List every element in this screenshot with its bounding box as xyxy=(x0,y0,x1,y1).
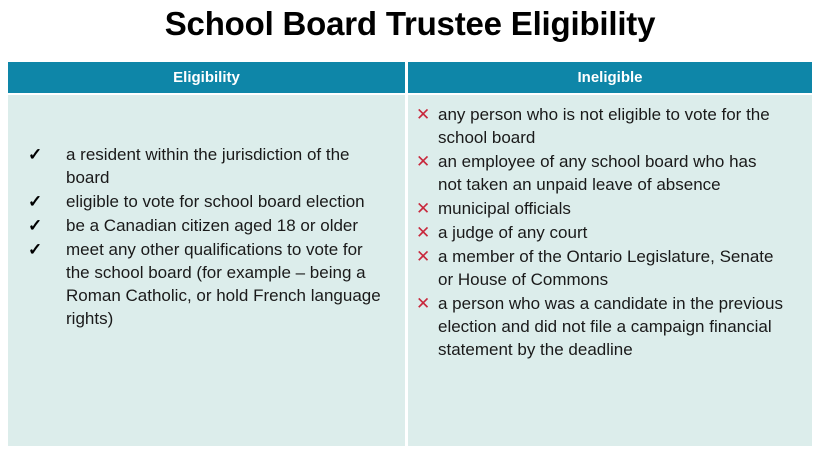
list-item-label: a judge of any court xyxy=(438,221,783,244)
ineligible-cell: ✕ any person who is not eligible to vote… xyxy=(408,95,812,446)
list-item: ✓ be a Canadian citizen aged 18 or older xyxy=(22,214,391,237)
list-item: ✕ municipal officials xyxy=(412,197,800,220)
list-item: ✕ any person who is not eligible to vote… xyxy=(412,103,800,149)
list-item: ✕ an employee of any school board who ha… xyxy=(412,150,800,196)
cross-icon: ✕ xyxy=(412,103,438,126)
list-item: ✕ a member of the Ontario Legislature, S… xyxy=(412,245,800,291)
cross-icon: ✕ xyxy=(412,245,438,268)
list-item-label: any person who is not eligible to vote f… xyxy=(438,103,783,149)
eligibility-cell: ✓ a resident within the jurisdiction of … xyxy=(8,95,408,446)
column-header-ineligible: Ineligible xyxy=(408,62,812,93)
check-icon: ✓ xyxy=(22,143,66,166)
list-item: ✕ a judge of any court xyxy=(412,221,800,244)
cross-icon: ✕ xyxy=(412,150,438,173)
list-item: ✕ a person who was a candidate in the pr… xyxy=(412,292,800,361)
list-item-label: meet any other qualifications to vote fo… xyxy=(66,238,386,330)
slide-page: School Board Trustee Eligibility Eligibi… xyxy=(0,0,820,452)
check-icon: ✓ xyxy=(22,238,66,261)
column-header-eligibility: Eligibility xyxy=(8,62,408,93)
list-item-label: a member of the Ontario Legislature, Sen… xyxy=(438,245,783,291)
list-item-label: eligible to vote for school board electi… xyxy=(66,190,386,213)
list-item: ✓ a resident within the jurisdiction of … xyxy=(22,143,391,189)
list-item-label: an employee of any school board who has … xyxy=(438,150,783,196)
page-title: School Board Trustee Eligibility xyxy=(0,0,820,56)
cross-icon: ✕ xyxy=(412,221,438,244)
check-icon: ✓ xyxy=(22,214,66,237)
list-item-label: a person who was a candidate in the prev… xyxy=(438,292,783,361)
cross-icon: ✕ xyxy=(412,292,438,315)
cross-icon: ✕ xyxy=(412,197,438,220)
ineligible-list: ✕ any person who is not eligible to vote… xyxy=(412,103,800,361)
table-header-row: Eligibility Ineligible xyxy=(8,62,812,93)
eligibility-list: ✓ a resident within the jurisdiction of … xyxy=(22,143,391,330)
list-item: ✓ eligible to vote for school board elec… xyxy=(22,190,391,213)
list-item-label: municipal officials xyxy=(438,197,783,220)
table-body-row: ✓ a resident within the jurisdiction of … xyxy=(8,95,812,446)
list-item-label: a resident within the jurisdiction of th… xyxy=(66,143,386,189)
list-item: ✓ meet any other qualifications to vote … xyxy=(22,238,391,330)
list-item-label: be a Canadian citizen aged 18 or older xyxy=(66,214,386,237)
check-icon: ✓ xyxy=(22,190,66,213)
eligibility-table: Eligibility Ineligible ✓ a resident with… xyxy=(8,62,812,446)
